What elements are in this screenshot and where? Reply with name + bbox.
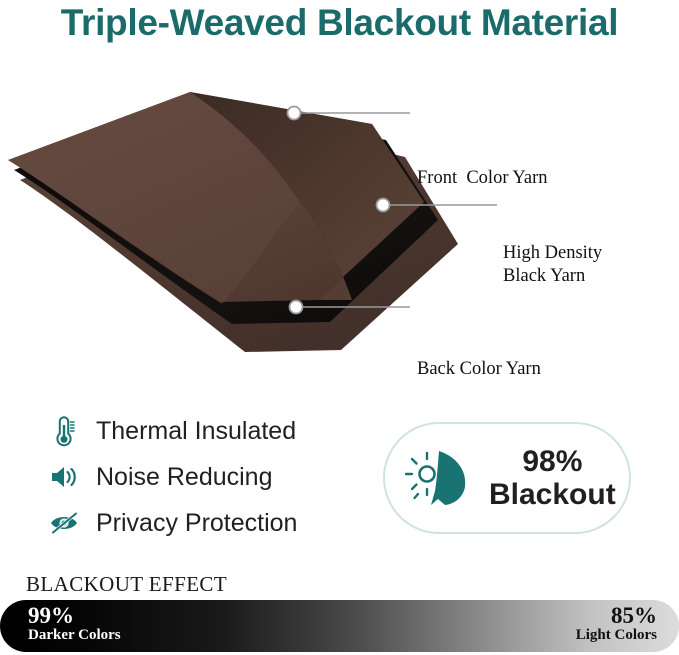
sun-blocked-icon bbox=[403, 445, 481, 511]
effect-light-colors: 85% Light Colors bbox=[576, 604, 657, 644]
blackout-word: Blackout bbox=[489, 478, 616, 511]
callout-label-back: Back Color Yarn bbox=[417, 358, 541, 381]
page-title: Triple-Weaved Blackout Material bbox=[0, 2, 679, 44]
blackout-badge: 98% Blackout bbox=[383, 422, 631, 534]
feature-label-noise: Noise Reducing bbox=[96, 463, 273, 492]
effect-left-label: Darker Colors bbox=[28, 628, 121, 644]
effect-darker-colors: 99% Darker Colors bbox=[28, 604, 121, 644]
blackout-percent: 98% bbox=[489, 445, 616, 478]
effect-right-percent: 85% bbox=[576, 604, 657, 628]
blackout-effect-heading: BLACKOUT EFFECT bbox=[26, 572, 227, 597]
fabric-layers-svg bbox=[0, 62, 679, 362]
effect-right-label: Light Colors bbox=[576, 628, 657, 644]
effect-left-percent: 99% bbox=[28, 604, 121, 628]
speaker-sound-icon bbox=[44, 458, 86, 496]
feature-label-privacy: Privacy Protection bbox=[96, 509, 297, 538]
feature-item-thermal: Thermal Insulated bbox=[44, 408, 374, 454]
fabric-layers-diagram: Front Color Yarn High Density Black Yarn… bbox=[0, 62, 679, 362]
blackout-badge-text: 98% Blackout bbox=[489, 445, 616, 511]
feature-list: Thermal Insulated Noise Reducing Privacy… bbox=[44, 408, 374, 546]
eye-slash-icon bbox=[44, 504, 86, 542]
feature-item-noise: Noise Reducing bbox=[44, 454, 374, 500]
thermometer-icon bbox=[44, 412, 86, 450]
feature-item-privacy: Privacy Protection bbox=[44, 500, 374, 546]
callout-label-front: Front Color Yarn bbox=[417, 167, 548, 190]
feature-label-thermal: Thermal Insulated bbox=[96, 417, 296, 446]
callout-label-middle: High Density Black Yarn bbox=[503, 242, 602, 288]
